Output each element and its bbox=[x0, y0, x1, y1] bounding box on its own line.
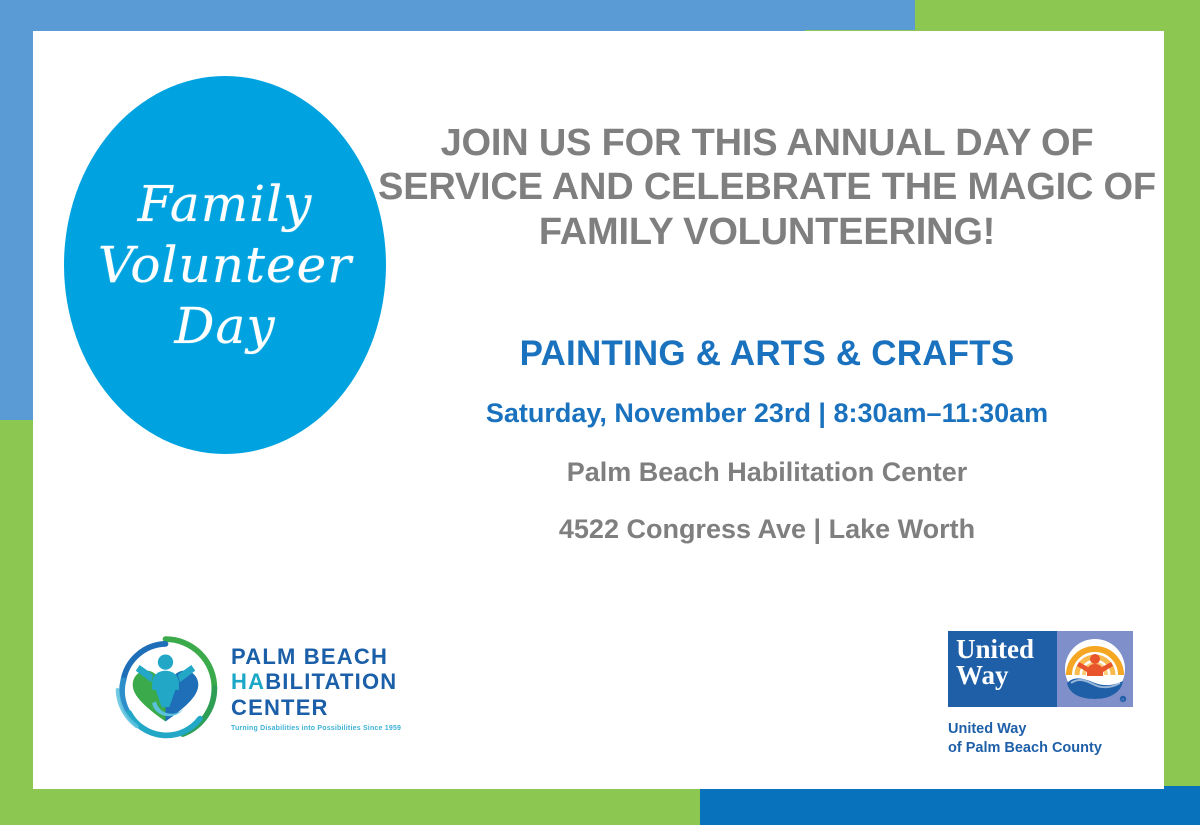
united-way-word-united: United bbox=[956, 636, 1057, 662]
event-datetime: Saturday, November 23rd | 8:30am–11:30am bbox=[370, 398, 1164, 429]
flyer-card: Family Volunteer Day JOIN US FOR THIS AN… bbox=[33, 31, 1164, 789]
palm-beach-habilitation-center-logo: PALM BEACH HABILITATION CENTER Turning D… bbox=[108, 623, 418, 753]
united-way-chapter-line-1: United Way bbox=[948, 720, 1148, 739]
frame-band-green-left-upper bbox=[0, 420, 25, 450]
frame-band-green-bottom-2 bbox=[0, 798, 480, 825]
pbhc-line-2-bilitation: BILITATION bbox=[265, 669, 397, 694]
family-volunteer-day-badge: Family Volunteer Day bbox=[64, 76, 386, 454]
united-way-wordmark: United Way bbox=[948, 631, 1057, 707]
pbhc-line-3: CENTER bbox=[231, 695, 401, 721]
united-way-chapter: United Way of Palm Beach County bbox=[948, 720, 1148, 757]
frame-band-green-left bbox=[0, 420, 36, 800]
event-address: 4522 Congress Ave | Lake Worth bbox=[370, 514, 1164, 545]
pbhc-line-1: PALM BEACH bbox=[231, 644, 401, 670]
event-venue: Palm Beach Habilitation Center bbox=[370, 457, 1164, 488]
badge-line-1: Family bbox=[138, 179, 313, 230]
headline: JOIN US FOR THIS ANNUAL DAY OF SERVICE A… bbox=[370, 121, 1164, 254]
pbhc-line-2: HABILITATION bbox=[231, 669, 401, 695]
event-content: JOIN US FOR THIS ANNUAL DAY OF SERVICE A… bbox=[370, 121, 1164, 545]
pbhc-wordmark: PALM BEACH HABILITATION CENTER Turning D… bbox=[231, 644, 401, 733]
pbhc-line-2-ha: HA bbox=[231, 669, 265, 694]
united-way-logo: United Way bbox=[948, 631, 1148, 766]
united-way-chapter-line-2: of Palm Beach County bbox=[948, 739, 1148, 758]
united-way-word-way: Way bbox=[956, 662, 1057, 688]
united-way-lockup: United Way bbox=[948, 631, 1133, 707]
frame-band-green-right bbox=[1164, 0, 1200, 800]
badge-line-3: Day bbox=[174, 301, 275, 352]
badge-line-2: Volunteer bbox=[98, 240, 352, 291]
pbhc-tagline: Turning Disabilities into Possibilities … bbox=[231, 725, 401, 732]
pbhc-swirl-heart-person-icon bbox=[108, 629, 223, 747]
svg-text:R: R bbox=[1121, 697, 1124, 702]
frame-band-blue-left-2 bbox=[0, 0, 25, 460]
activity-title: PAINTING & ARTS & CRAFTS bbox=[370, 334, 1164, 374]
flyer-canvas: Family Volunteer Day JOIN US FOR THIS AN… bbox=[0, 0, 1200, 825]
frame-band-green-top-right bbox=[915, 0, 1200, 30]
frame-band-darkblue-bottom-2 bbox=[700, 786, 1200, 825]
united-way-rainbow-hand-person-icon: R bbox=[1057, 631, 1133, 707]
